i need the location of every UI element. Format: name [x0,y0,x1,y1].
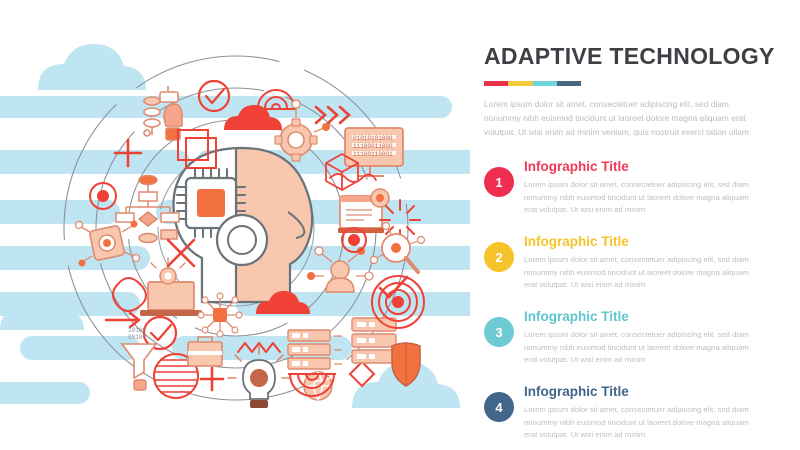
infographic-page: 01010101000 11100011000 11100110001 [0,0,800,450]
adaptive-technology-illustration: 01010101000 11100011000 11100110001 [0,0,470,450]
list-item[interactable]: 1 Infographic Title Lorem ipsum dolor si… [484,158,784,233]
document-gear-icon [338,189,389,233]
item-number-badge: 3 [484,317,514,347]
list-item[interactable]: 4 Infographic Title Lorem ipsum dolor si… [484,383,784,450]
svg-text:10100: 10100 [128,327,146,334]
item-number-badge: 2 [484,242,514,272]
svg-text:01010101000: 01010101000 [353,135,393,142]
squiggle-icon [330,174,376,182]
infographic-items-list: 1 Infographic Title Lorem ipsum dolor si… [484,158,784,450]
list-item[interactable]: 2 Infographic Title Lorem ipsum dolor si… [484,233,784,308]
accent-segment-4 [557,81,581,86]
item-title: Infographic Title [524,384,756,400]
flowchart-icon [116,176,179,243]
plus-icon-2 [201,368,223,390]
svg-text:11100011000: 11100011000 [353,143,393,150]
content-panel: ADAPTIVE TECHNOLOGY Lorem ipsum dolor si… [484,44,784,450]
page-subtitle: Lorem ipsum dolor sit amet, consectetuer… [484,98,756,139]
accent-segment-1 [484,81,508,86]
node-network-icon [198,293,242,337]
item-number-badge: 1 [484,167,514,197]
item-title: Infographic Title [524,234,756,250]
accent-bar [484,81,581,86]
accent-segment-3 [533,81,557,86]
cross-x-icon [168,240,194,266]
ai-head-with-cpu-chip-icon [174,148,313,302]
item-description: Lorem ipsum dolor sit amet, consectetuer… [524,254,756,291]
item-description: Lorem ipsum dolor sit amet, consectetuer… [524,329,756,366]
page-title: ADAPTIVE TECHNOLOGY [484,44,784,69]
item-title: Infographic Title [524,159,756,175]
briefcase-icon [188,337,222,366]
item-number-badge: 4 [484,392,514,422]
item-title: Infographic Title [524,309,756,325]
laptop-gear-icon [140,258,202,316]
item-description: Lorem ipsum dolor sit amet, consectetuer… [524,404,756,441]
diamond-icon [350,362,374,386]
server-stack-icon [352,318,396,363]
accent-segment-2 [508,81,532,86]
svg-text:11100110001: 11100110001 [353,151,393,158]
list-item[interactable]: 3 Infographic Title Lorem ipsum dolor si… [484,308,784,383]
bullseye-target-icon [372,276,424,328]
item-description: Lorem ipsum dolor sit amet, consectetuer… [524,179,756,216]
svg-text:00100: 00100 [128,334,146,341]
